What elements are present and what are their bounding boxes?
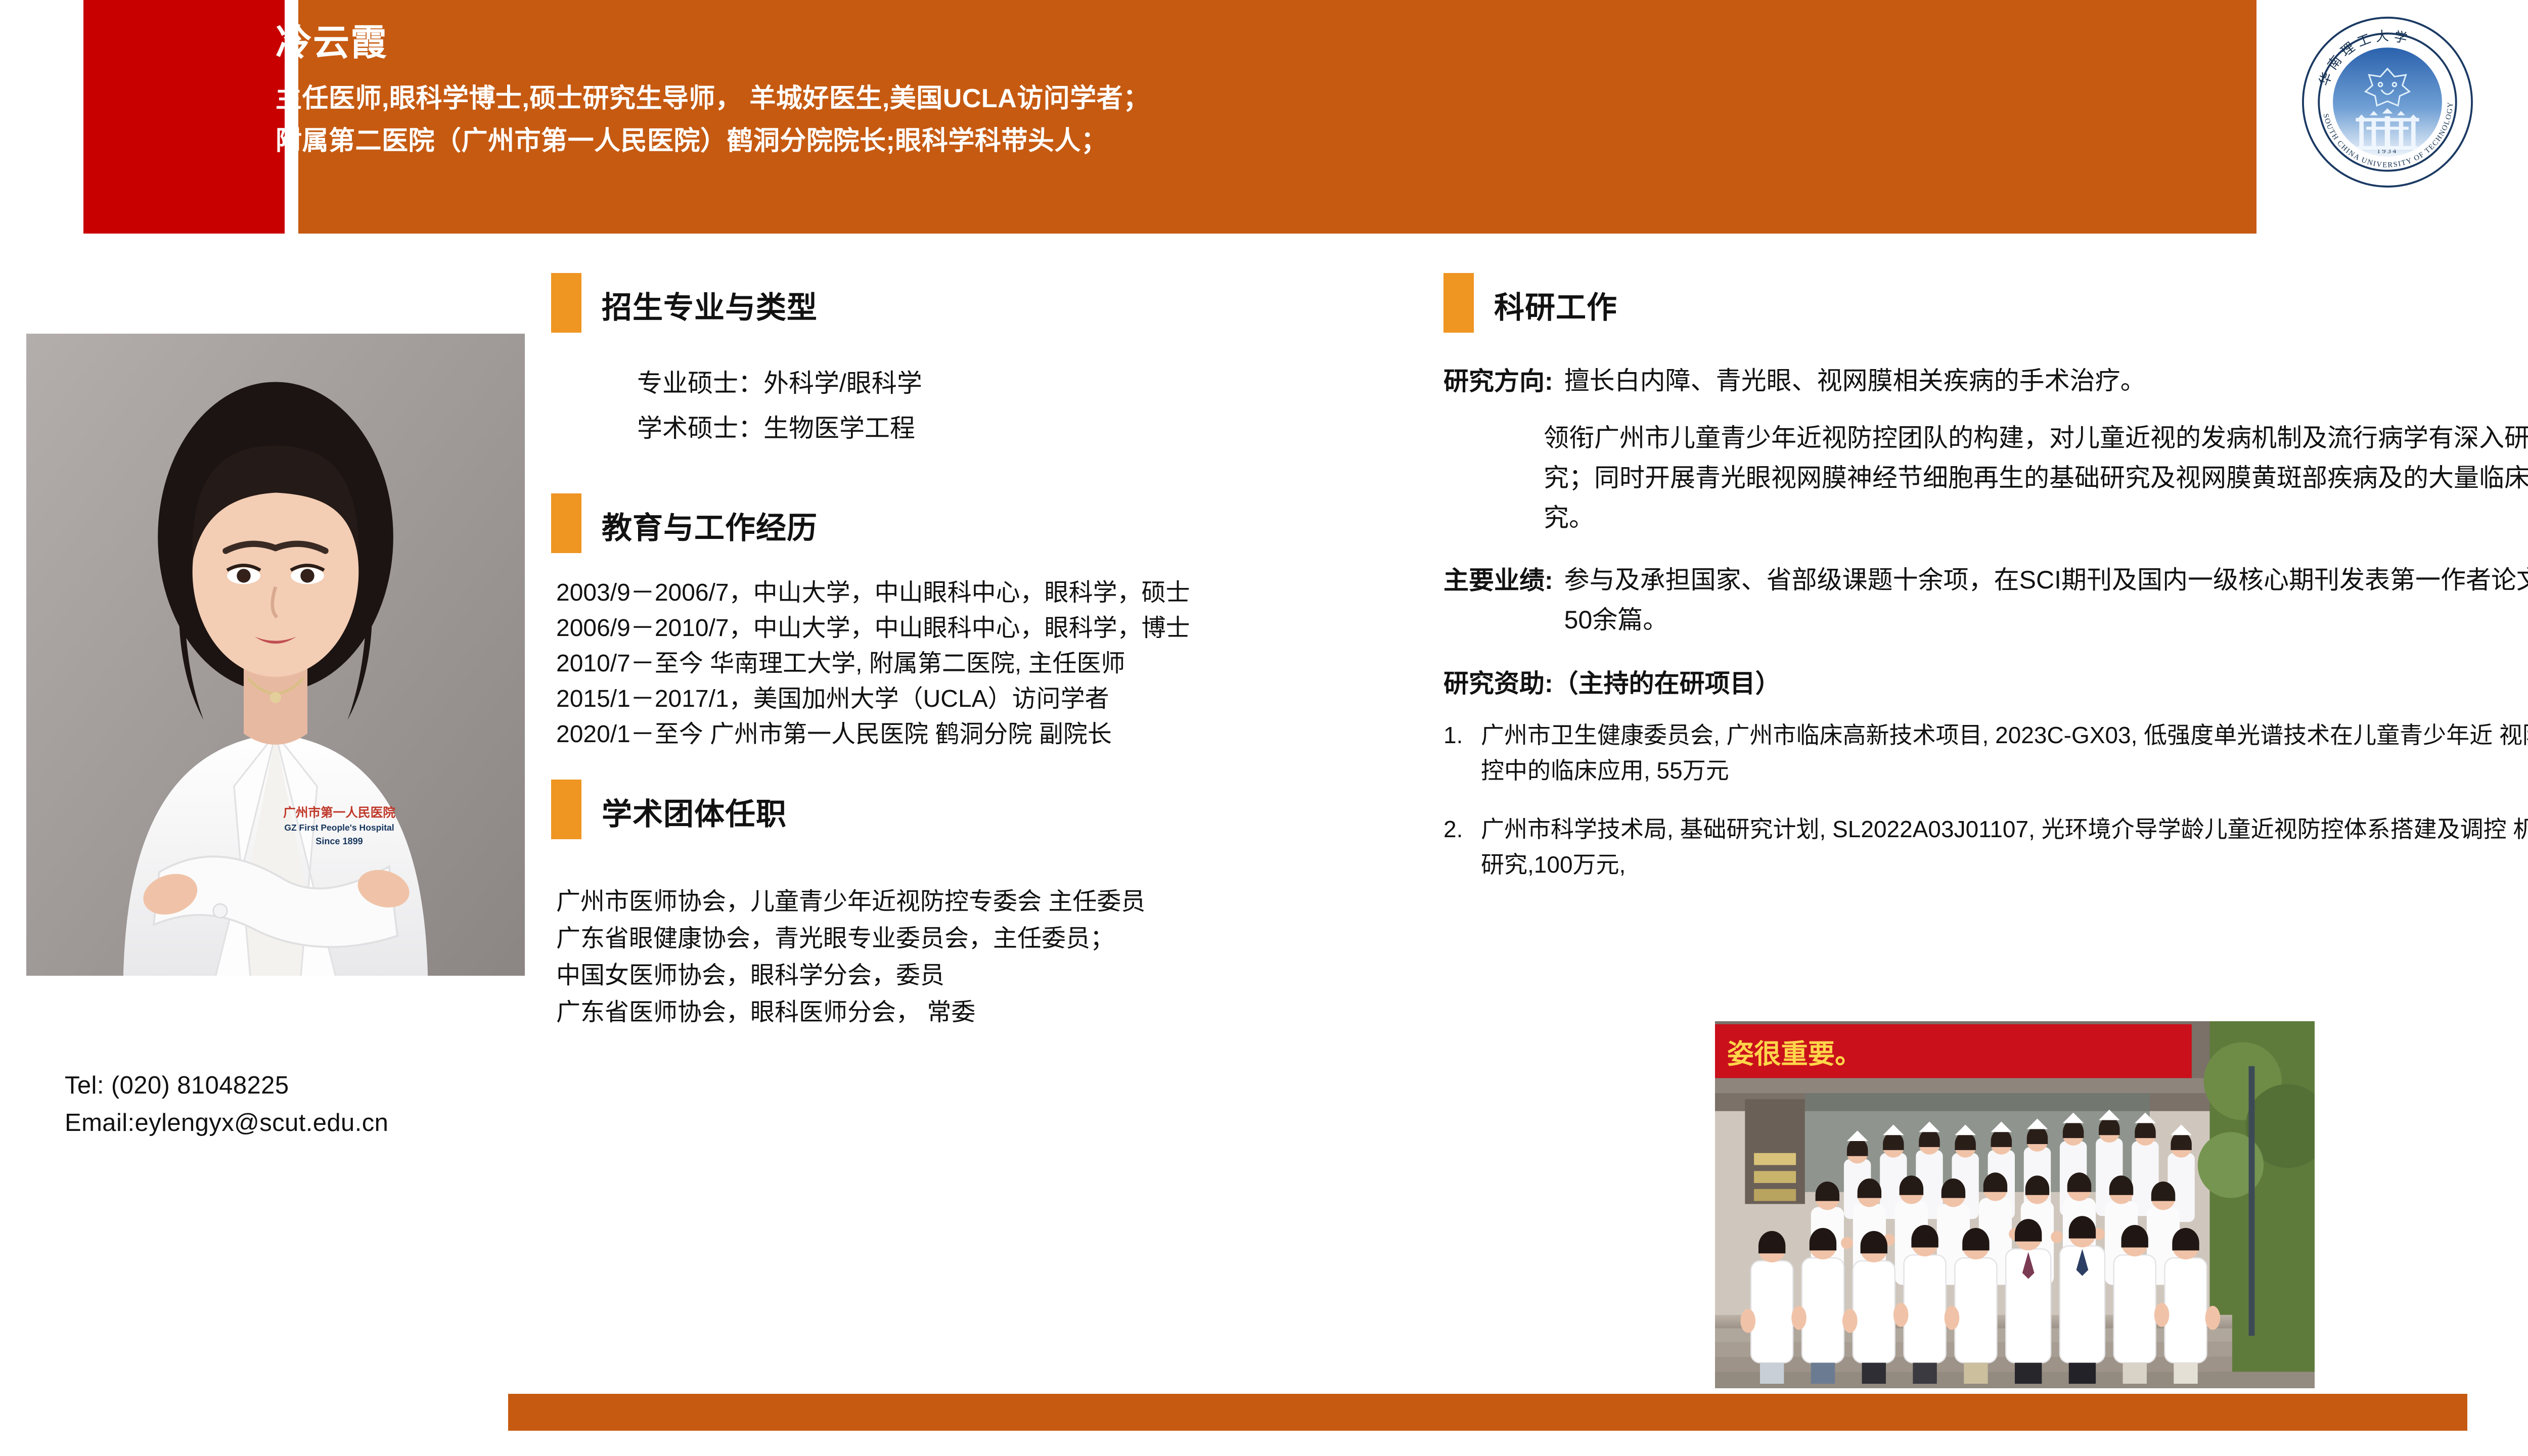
section-title: 科研工作 — [1494, 283, 1617, 327]
admissions-list: 专业硕士：外科学/眼科学 学术硕士：生物医学工程 — [637, 361, 1446, 451]
university-logo-icon: 华 南 理 工 大 学 SOUTH CHINA UNIVERSITY OF TE… — [2299, 14, 2475, 190]
right-column: 科研工作 研究方向: 擅长白内障、青光眼、视网膜相关疾病的手术治疗。 领衔广州市… — [1443, 273, 2528, 883]
research-direction-text: 擅长白内障、青光眼、视网膜相关疾病的手术治疗。 — [1564, 361, 2528, 401]
team-photo: 姿很重要。 — [1715, 1021, 2315, 1388]
accent-bar-icon — [551, 273, 581, 333]
person-titles-line-1: 主任医师,眼科学博士,硕士研究生导师， 羊城好医生,美国UCLA访问学者； — [276, 77, 2528, 120]
section-education: 教育与工作经历 2003/9－2006/7，中山大学，中山眼科中心，眼科学，硕士… — [551, 493, 1446, 752]
header-text-group: 冷云霞 主任医师,眼科学博士,硕士研究生导师， 羊城好医生,美国UCLA访问学者… — [276, 22, 2528, 162]
section-title: 教育与工作经历 — [602, 504, 818, 548]
contact-tel: Tel: (020) 81048225 — [65, 1067, 570, 1104]
list-item: 专业硕士：外科学/眼科学 — [637, 361, 1446, 406]
section-title: 学术团体任职 — [602, 790, 787, 834]
section-academic-posts: 学术团体任职 广州市医师协会，儿童青少年近视防控专委会 主任委员 广东省眼健康协… — [551, 780, 1446, 1031]
section-admissions: 招生专业与类型 专业硕士：外科学/眼科学 学术硕士：生物医学工程 — [551, 273, 1446, 451]
list-item: 中国女医师协会，眼科学分会，委员 — [556, 958, 1446, 994]
list-item: 2003/9－2006/7，中山大学，中山眼科中心，眼科学，硕士 — [556, 575, 1446, 611]
left-column: 招生专业与类型 专业硕士：外科学/眼科学 学术硕士：生物医学工程 教育与工作经历… — [551, 273, 1446, 1031]
svg-text:姿很重要。: 姿很重要。 — [1727, 1038, 1862, 1070]
accent-bar-icon — [1443, 273, 1474, 333]
education-list: 2003/9－2006/7，中山大学，中山眼科中心，眼科学，硕士 2006/9－… — [556, 575, 1446, 752]
list-item-text: 广州市卫生健康委员会, 广州市临床高新技术项目, 2023C-GX03, 低强度… — [1481, 718, 2528, 789]
list-item-text: 广州市科学技术局, 基础研究计划, SL2022A03J01107, 光环境介导… — [1481, 812, 2528, 883]
svg-text:广州市第一人民医院: 广州市第一人民医院 — [283, 805, 395, 820]
person-titles-line-2: 附属第二医院（广州市第一人民医院）鹤洞分院院长;眼科学科带头人； — [276, 120, 2528, 162]
list-item: 2006/9－2010/7，中山大学，中山眼科中心，眼科学，博士 — [556, 611, 1446, 646]
accent-bar-icon — [551, 780, 581, 839]
poster-root: 冷云霞 主任医师,眼科学博士,硕士研究生导师， 羊城好医生,美国UCLA访问学者… — [0, 0, 2528, 1456]
section-title: 招生专业与类型 — [602, 283, 818, 327]
list-item-number: 1. — [1443, 718, 1481, 789]
red-decor-block — [83, 0, 285, 234]
funding-label: 研究资助:（主持的在研项目） — [1443, 663, 2528, 700]
list-item: 2015/1－2017/1，美国加州大学（UCLA）访问学者 — [556, 681, 1446, 717]
portrait-photo: 广州市第一人民医院 GZ First People's Hospital Sin… — [26, 334, 525, 976]
section-header: 招生专业与类型 — [551, 273, 1446, 334]
list-item: 广东省医师协会，眼科医师分会， 常委 — [556, 994, 1446, 1031]
section-header-research: 科研工作 — [1443, 273, 2528, 334]
list-item: 广东省眼健康协会，青光眼专业委员会，主任委员； — [556, 921, 1446, 958]
research-direction-label: 研究方向: — [1443, 361, 1553, 401]
list-item: 学术硕士：生物医学工程 — [637, 406, 1446, 451]
funding-list: 1. 广州市卫生健康委员会, 广州市临床高新技术项目, 2023C-GX03, … — [1443, 718, 2528, 883]
list-item: 广州市医师协会，儿童青少年近视防控专委会 主任委员 — [556, 884, 1446, 921]
section-header: 学术团体任职 — [551, 780, 1446, 840]
main-achievements-label: 主要业绩: — [1443, 560, 1553, 640]
accent-bar-icon — [551, 493, 581, 553]
person-name: 冷云霞 — [276, 22, 2528, 64]
list-item-number: 2. — [1443, 812, 1481, 883]
main-achievements-row: 主要业绩: 参与及承担国家、省部级课题十余项，在SCI期刊及国内一级核心期刊发表… — [1443, 560, 2528, 640]
list-item: 1. 广州市卫生健康委员会, 广州市临床高新技术项目, 2023C-GX03, … — [1443, 718, 2528, 789]
svg-text:Since 1899: Since 1899 — [315, 836, 363, 846]
contact-email: Email:eylengyx@scut.edu.cn — [65, 1104, 570, 1142]
svg-text:GZ First People's Hospital: GZ First People's Hospital — [284, 823, 394, 833]
contact-info: Tel: (020) 81048225 Email:eylengyx@scut.… — [65, 1067, 570, 1142]
research-direction-row: 研究方向: 擅长白内障、青光眼、视网膜相关疾病的手术治疗。 — [1443, 361, 2528, 401]
section-header: 教育与工作经历 — [551, 493, 1446, 554]
list-item: 2010/7－至今 华南理工大学, 附属第二医院, 主任医师 — [556, 646, 1446, 681]
research-direction-paragraph: 领衔广州市儿童青少年近视防控团队的构建，对儿童近视的发病机制及流行病学有深入研究… — [1544, 418, 2528, 538]
main-achievements-text: 参与及承担国家、省部级课题十余项，在SCI期刊及国内一级核心期刊发表第一作者论文… — [1564, 560, 2528, 640]
academic-posts-list: 广州市医师协会，儿童青少年近视防控专委会 主任委员 广东省眼健康协会，青光眼专业… — [556, 884, 1446, 1031]
list-item: 2. 广州市科学技术局, 基础研究计划, SL2022A03J01107, 光环… — [1443, 812, 2528, 883]
list-item: 2020/1－至今 广州市第一人民医院 鹤洞分院 副院长 — [556, 717, 1446, 752]
footer-bar — [508, 1394, 2467, 1431]
